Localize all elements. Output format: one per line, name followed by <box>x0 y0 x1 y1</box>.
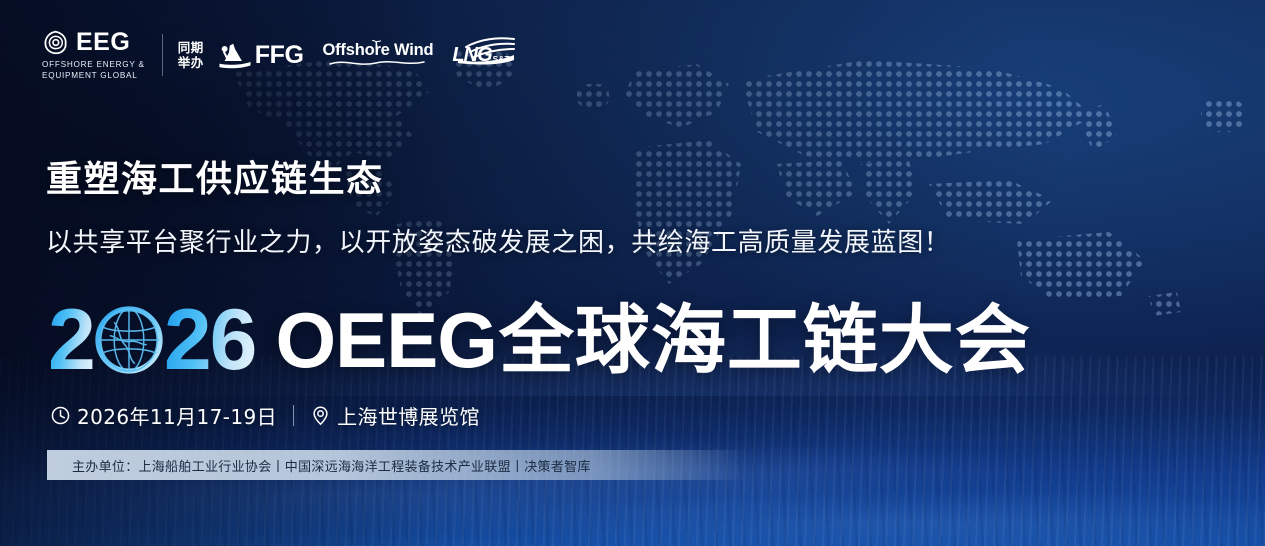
event-date-text: 2026年11月17-19日 <box>77 401 277 430</box>
concurrent-label-line2: 举办 <box>178 55 204 70</box>
partner-logos: FFG Offshore Wind <box>216 40 510 70</box>
eeg-tagline-line1: OFFSHORE ENERGY & <box>42 60 145 71</box>
event-venue: 上海世博展览馆 <box>310 401 480 430</box>
eeg-swirl-icon <box>42 29 69 56</box>
year-digits-26: 26 <box>164 297 256 383</box>
lng-ship-icon <box>444 33 516 65</box>
offshore-wind-turbine-icon <box>371 40 382 49</box>
concurrent-events-label: 同期 举办 <box>178 40 204 71</box>
event-title-cjk: 全球海工链大会 <box>499 303 1031 378</box>
event-title: 2 <box>48 292 1031 388</box>
clock-icon <box>50 405 71 426</box>
hero-headline: 重塑海工供应链生态 <box>46 160 384 200</box>
eeg-tagline-line2: EQUIPMENT GLOBAL <box>42 71 145 82</box>
offshore-wind-wave-icon <box>328 59 428 68</box>
event-year: 2 <box>48 297 256 383</box>
event-meta-row: 2026年11月17-19日 上海世博展览馆 <box>50 401 480 430</box>
logo-bar: EEG OFFSHORE ENERGY & EQUIPMENT GLOBAL 同… <box>42 30 510 80</box>
event-date: 2026年11月17-19日 <box>50 401 277 430</box>
map-pin-icon <box>310 405 331 426</box>
year-digit-2: 2 <box>48 297 94 383</box>
ffg-vessel-icon <box>216 40 254 70</box>
meta-separator <box>293 405 294 426</box>
partner-logo-ffg[interactable]: FFG <box>216 40 304 70</box>
organizer-text: 主办单位：上海船舶工业行业协会丨中国深远海海洋工程装备技术产业联盟丨决策者智库 <box>47 456 591 475</box>
eeg-wordmark: EEG <box>76 30 130 55</box>
event-banner: EEG OFFSHORE ENERGY & EQUIPMENT GLOBAL 同… <box>0 0 1265 546</box>
eeg-logo[interactable]: EEG OFFSHORE ENERGY & EQUIPMENT GLOBAL <box>42 29 145 82</box>
concurrent-label-line1: 同期 <box>178 40 204 55</box>
event-title-latin: OEEG <box>276 301 497 379</box>
hero-subheadline: 以共享平台聚行业之力，以开放姿态破发展之困，共绘海工高质量发展蓝图！ <box>46 222 950 259</box>
logo-divider <box>162 34 163 76</box>
partner-logo-offshore-wind[interactable]: Offshore Wind <box>323 42 434 69</box>
event-venue-text: 上海世博展览馆 <box>337 401 480 430</box>
globe-icon <box>92 303 166 377</box>
organizer-bar: 主办单位：上海船舶工业行业协会丨中国深远海海洋工程装备技术产业联盟丨决策者智库 <box>47 450 747 480</box>
ffg-wordmark: FFG <box>255 43 304 68</box>
partner-logo-lng[interactable]: LNG S&T <box>452 45 509 65</box>
